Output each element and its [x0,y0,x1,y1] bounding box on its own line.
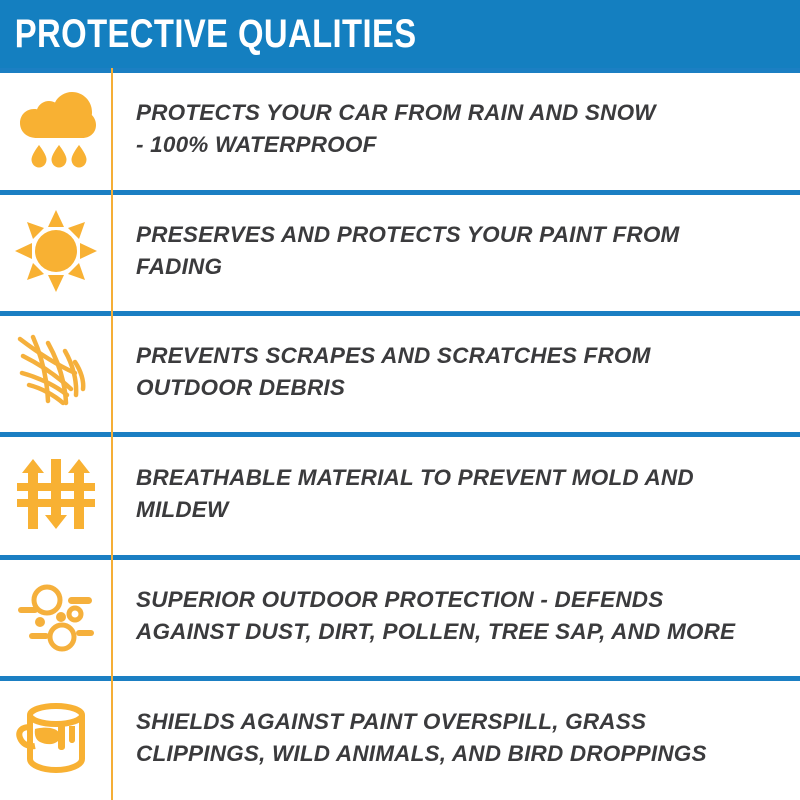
paint-can-icon [13,695,99,781]
column-divider [111,555,113,676]
row-divider [0,68,800,73]
feature-row: SUPERIOR OUTDOOR PROTECTION - DEFENDS AG… [0,555,800,676]
column-divider [111,190,113,311]
feature-text-line-2: - 100% WATERPROOF [136,129,782,161]
page-title: PROTECTIVE QUALITIES [0,14,417,54]
row-divider [0,432,800,437]
text-cell: PRESERVES AND PROTECTS YOUR PAINT FROM F… [112,219,800,283]
dust-particles-icon [13,573,99,659]
text-cell: SUPERIOR OUTDOOR PROTECTION - DEFENDS AG… [112,584,800,648]
feature-text-line-1: PROTECTS YOUR CAR FROM RAIN AND SNOW [136,97,782,129]
header-banner: PROTECTIVE QUALITIES [0,0,800,68]
feature-list: PROTECTS YOUR CAR FROM RAIN AND SNOW - 1… [0,68,800,800]
icon-cell [0,190,112,311]
feature-text-line-1: SUPERIOR OUTDOOR PROTECTION - DEFENDS [136,584,782,616]
feature-text-line-2: OUTDOOR DEBRIS [136,372,782,404]
column-divider [111,311,113,432]
rain-cloud-icon [13,86,99,172]
row-divider [0,190,800,195]
icon-cell [0,311,112,432]
column-divider [111,68,113,190]
feature-text-line-1: PRESERVES AND PROTECTS YOUR PAINT FROM [136,219,782,251]
feature-text-line-2: CLIPPINGS, WILD ANIMALS, AND BIRD DROPPI… [136,738,782,770]
column-divider [111,432,113,555]
icon-cell [0,68,112,190]
text-cell: BREATHABLE MATERIAL TO PREVENT MOLD AND … [112,462,800,526]
sun-icon [13,208,99,294]
feature-text-line-2: MILDEW [136,494,782,526]
feature-row: BREATHABLE MATERIAL TO PREVENT MOLD AND … [0,432,800,555]
icon-cell [0,432,112,555]
feature-row: SHIELDS AGAINST PAINT OVERSPILL, GRASS C… [0,676,800,800]
feature-row: PREVENTS SCRAPES AND SCRATCHES FROM OUTD… [0,311,800,432]
row-divider [0,555,800,560]
text-cell: PROTECTS YOUR CAR FROM RAIN AND SNOW - 1… [112,97,800,161]
text-cell: PREVENTS SCRAPES AND SCRATCHES FROM OUTD… [112,340,800,404]
feature-text-line-1: SHIELDS AGAINST PAINT OVERSPILL, GRASS [136,706,782,738]
feature-text-line-1: BREATHABLE MATERIAL TO PREVENT MOLD AND [136,462,782,494]
feature-text-line-1: PREVENTS SCRAPES AND SCRATCHES FROM [136,340,782,372]
icon-cell [0,676,112,800]
row-divider [0,676,800,681]
feature-text-line-2: AGAINST DUST, DIRT, POLLEN, TREE SAP, AN… [136,616,782,648]
icon-cell [0,555,112,676]
breathable-arrows-icon [13,451,99,537]
row-divider [0,311,800,316]
feature-text-line-2: FADING [136,251,782,283]
text-cell: SHIELDS AGAINST PAINT OVERSPILL, GRASS C… [112,706,800,770]
column-divider [111,676,113,800]
scratches-icon [13,329,99,415]
feature-row: PRESERVES AND PROTECTS YOUR PAINT FROM F… [0,190,800,311]
protective-qualities-infographic: PROTECTIVE QUALITIES PROTECTS YOUR CAR F… [0,0,800,800]
feature-row: PROTECTS YOUR CAR FROM RAIN AND SNOW - 1… [0,68,800,190]
